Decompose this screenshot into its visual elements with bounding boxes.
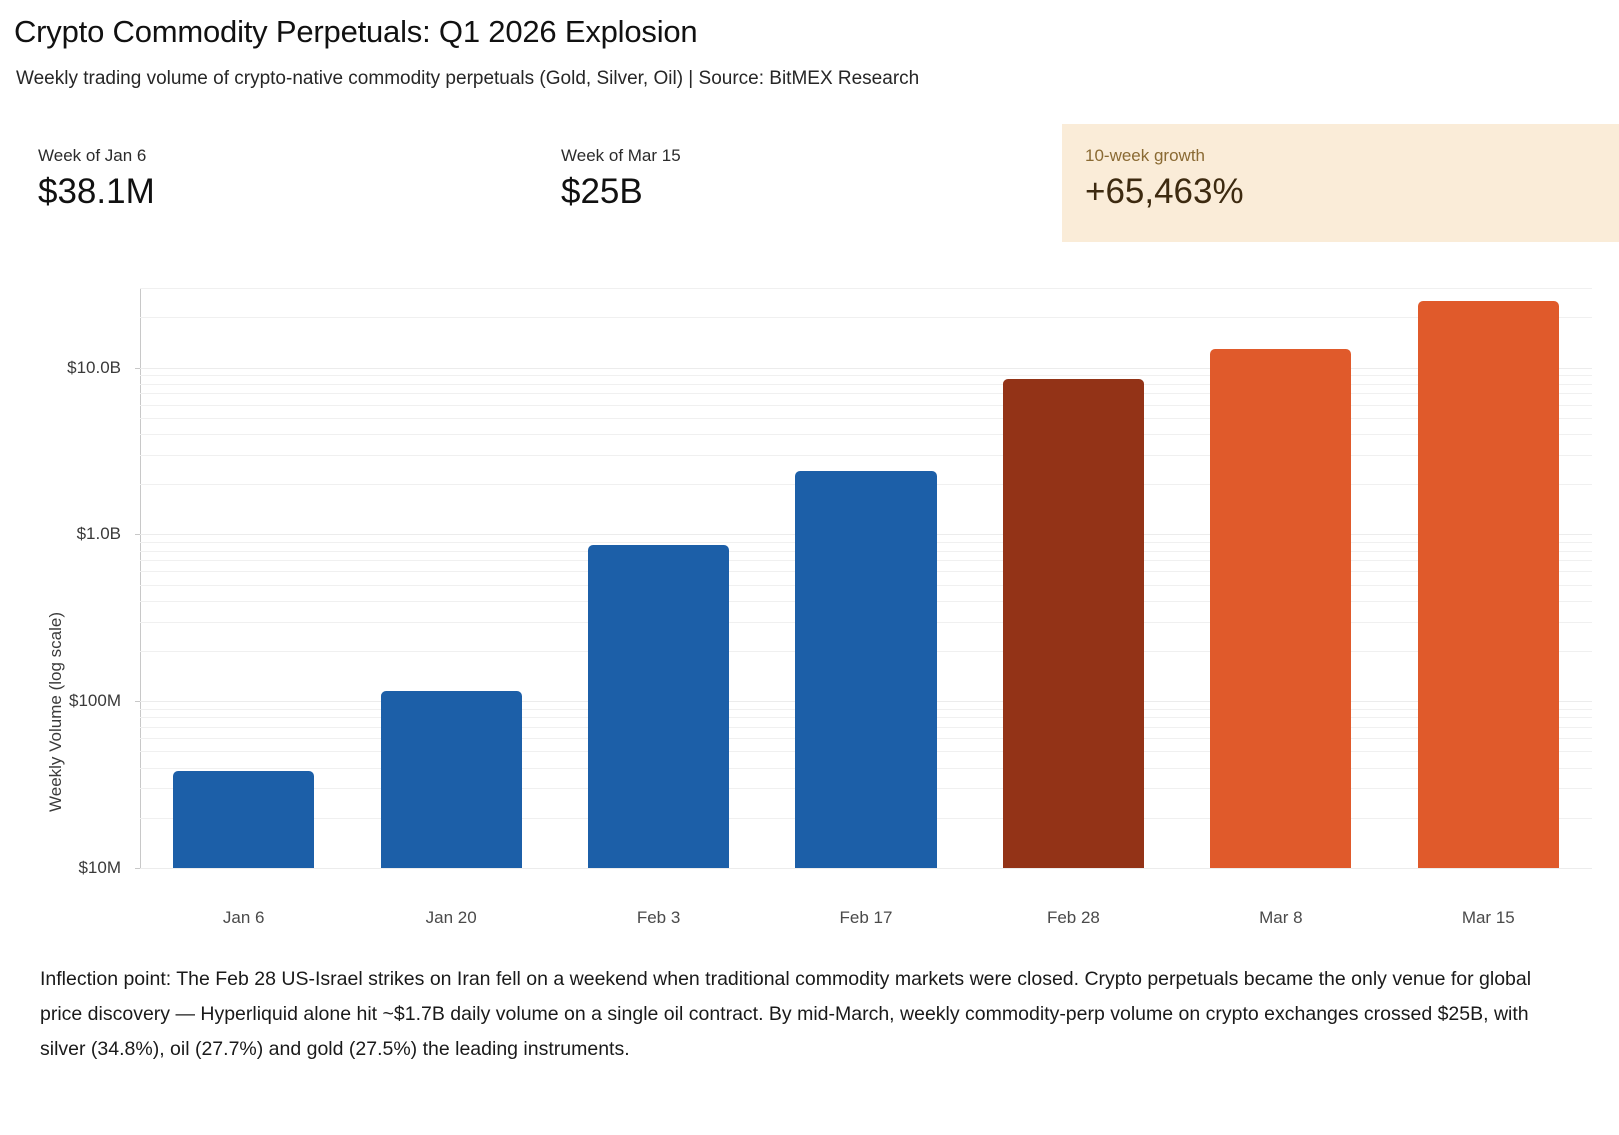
gridline [140, 405, 1592, 406]
x-axis-tick-label: Feb 28 [1047, 908, 1100, 928]
x-axis-tick-label: Feb 17 [840, 908, 893, 928]
y-axis-tick-mark [135, 534, 140, 535]
kpi-row: Week of Jan 6 $38.1M Week of Mar 15 $25B… [0, 124, 1619, 242]
gridline [140, 317, 1592, 318]
kpi-value: $38.1M [38, 172, 155, 212]
x-axis-tick-label: Mar 8 [1259, 908, 1302, 928]
y-axis-tick-label: $10M [78, 858, 121, 878]
gridline [140, 288, 1592, 289]
y-axis-tick-label: $100M [69, 691, 121, 711]
gridline [140, 868, 1592, 869]
bar[interactable] [588, 545, 729, 868]
kpi-label: Week of Jan 6 [38, 146, 146, 166]
y-axis-label: Weekly Volume (log scale) [46, 562, 66, 862]
x-axis-tick-label: Jan 6 [223, 908, 265, 928]
gridline [140, 393, 1592, 394]
kpi-card-10-week-growth: 10-week growth +65,463% [1062, 124, 1619, 242]
bar[interactable] [795, 471, 936, 868]
kpi-label: Week of Mar 15 [561, 146, 681, 166]
kpi-value: +65,463% [1085, 172, 1244, 212]
y-axis-tick-mark [135, 368, 140, 369]
kpi-value: $25B [561, 172, 643, 212]
y-axis-tick-mark [135, 701, 140, 702]
page-title: Crypto Commodity Perpetuals: Q1 2026 Exp… [14, 14, 697, 50]
gridline [140, 384, 1592, 385]
kpi-label: 10-week growth [1085, 146, 1205, 166]
kpi-card-week-of-jan-6: Week of Jan 6 $38.1M [38, 124, 458, 242]
bar[interactable] [1003, 379, 1144, 868]
x-axis-tick-label: Feb 3 [637, 908, 680, 928]
plot-area: $10M$100M$1.0B$10.0BJan 6Jan 20Feb 3Feb … [140, 288, 1592, 868]
bar[interactable] [1418, 301, 1559, 868]
gridline [140, 434, 1592, 435]
bar-chart: Weekly Volume (log scale) $10M$100M$1.0B… [0, 262, 1619, 924]
gridline [140, 418, 1592, 419]
footnote-text: Inflection point: The Feb 28 US-Israel s… [40, 962, 1540, 1067]
chart-page: Crypto Commodity Perpetuals: Q1 2026 Exp… [0, 0, 1619, 1135]
bar[interactable] [1210, 349, 1351, 868]
y-axis-tick-mark [135, 868, 140, 869]
bar[interactable] [173, 771, 314, 868]
y-axis-tick-label: $10.0B [67, 358, 121, 378]
kpi-card-week-of-mar-15: Week of Mar 15 $25B [561, 124, 981, 242]
page-subtitle: Weekly trading volume of crypto-native c… [16, 68, 919, 90]
x-axis-tick-label: Mar 15 [1462, 908, 1515, 928]
gridline [140, 368, 1592, 369]
bar[interactable] [381, 691, 522, 868]
y-axis-tick-label: $1.0B [77, 524, 121, 544]
x-axis-tick-label: Jan 20 [426, 908, 477, 928]
gridline [140, 375, 1592, 376]
gridline [140, 455, 1592, 456]
